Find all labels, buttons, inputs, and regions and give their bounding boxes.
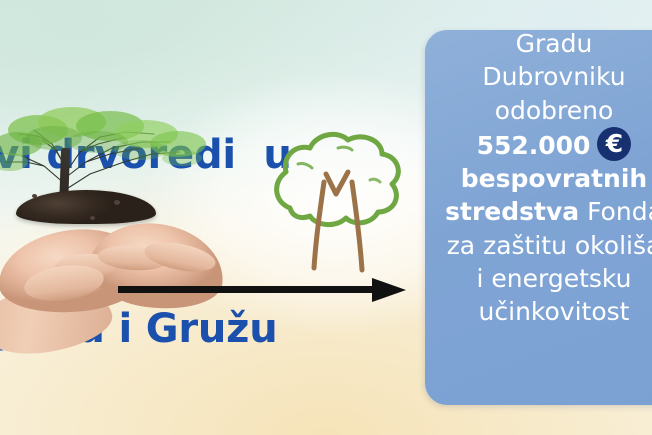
info-panel-text: Gradu Dubrovniku odobreno 552.000€ bespo…: [425, 27, 652, 328]
panel-line-zastitu: za zaštitu okoliša: [425, 229, 652, 262]
panel-line-ucinkovitost: učinkovitost: [425, 295, 652, 328]
euro-icon: €: [597, 127, 631, 161]
panel-line-energetsku: i energetsku: [425, 262, 652, 295]
drawn-tree-illustration: [262, 122, 412, 282]
text-fonda: Fonda: [579, 197, 652, 226]
hands: [0, 206, 234, 416]
soil-speck: [32, 194, 37, 198]
right-arrow: [118, 278, 406, 302]
panel-line-stredstva-fonda: stredstva Fonda: [425, 195, 652, 228]
amount-row: 552.000€: [425, 127, 652, 162]
panel-line-odobreno: odobreno: [425, 94, 652, 127]
bold-bespovratnih: bespovratnih: [461, 164, 647, 193]
panel-line-bespovratnih: bespovratnih: [425, 162, 652, 195]
panel-line-gradu: Gradu: [425, 27, 652, 60]
poster-canvas: ovi drvoredi u apadu i Gružu: [0, 0, 652, 435]
euro-glyph: €: [597, 127, 631, 161]
amount-value: 552.000: [477, 131, 591, 160]
panel-line-dubrovniku: Dubrovniku: [425, 60, 652, 93]
bold-stredstva: stredstva: [445, 197, 579, 226]
soil-speck: [114, 200, 120, 205]
